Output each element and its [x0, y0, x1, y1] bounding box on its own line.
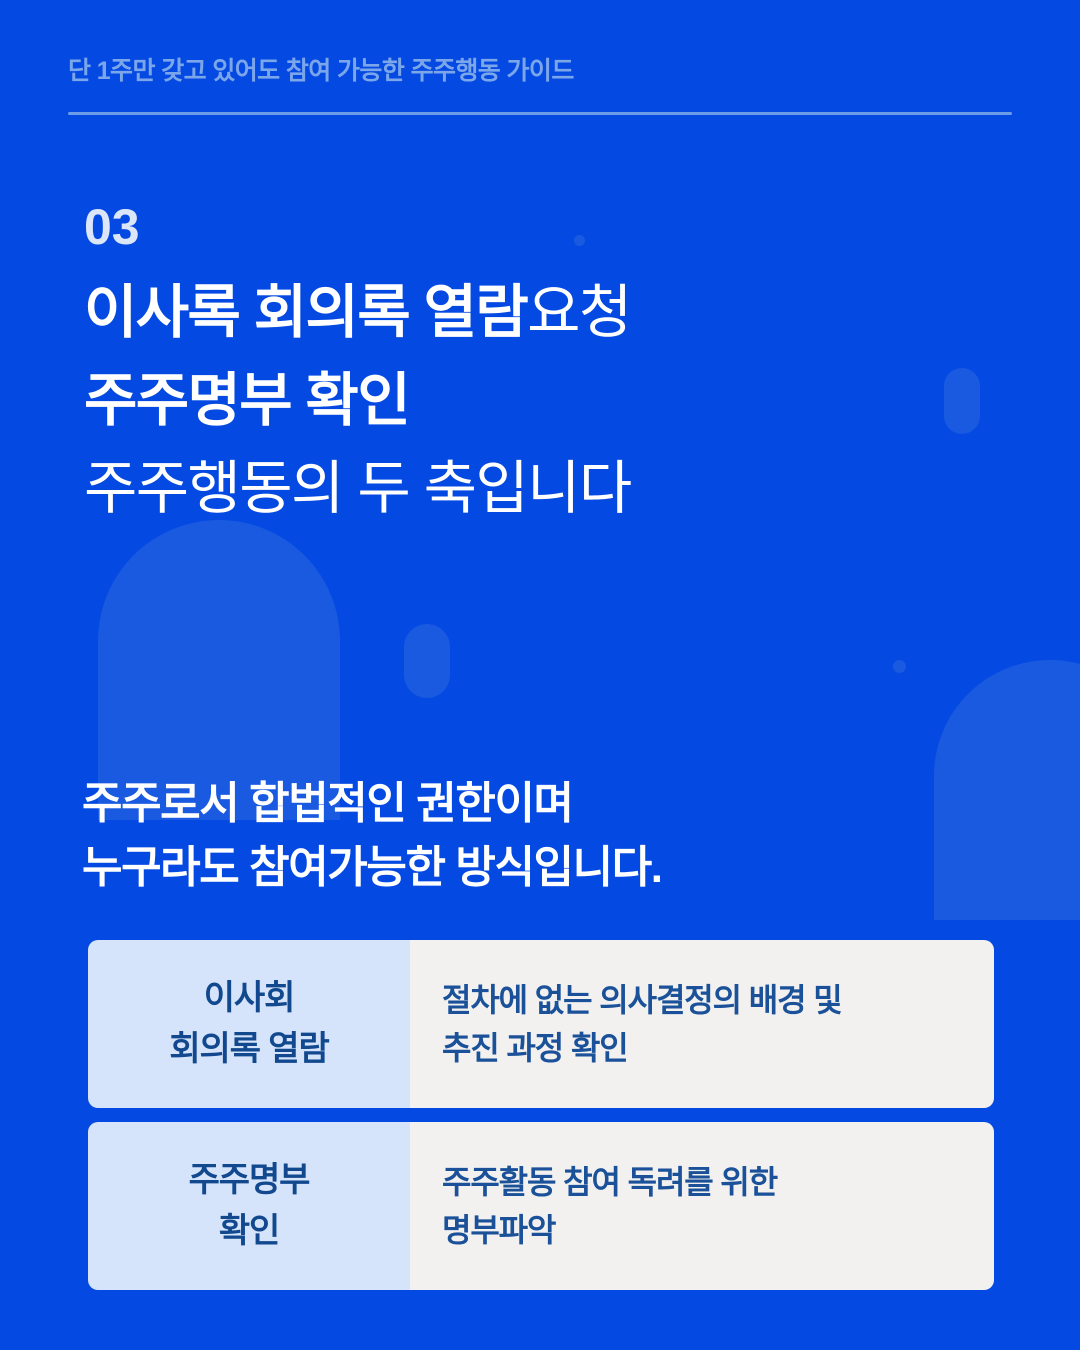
table-row-label-line-1: 주주명부	[189, 1155, 310, 1206]
subtitle: 주주로서 합법적인 권한이며 누구라도 참여가능한 방식입니다.	[82, 772, 982, 900]
table-row-description-line-1: 주주활동 참여 독려를 위한	[442, 1158, 994, 1206]
title-line-1-light: 요청	[527, 280, 631, 345]
header: 단 1주만 갖고 있어도 참여 가능한 주주행동 가이드	[68, 56, 1012, 115]
table-row-label: 이사회 회의록 열람	[88, 940, 410, 1108]
table-row-description-line-2: 추진 과정 확인	[442, 1024, 994, 1072]
decorative-pill-middle	[404, 624, 450, 698]
table-row-description-line-2: 명부파악	[442, 1206, 994, 1254]
header-divider	[68, 112, 1012, 115]
table-row: 이사회 회의록 열람 절차에 없는 의사결정의 배경 및 추진 과정 확인	[88, 940, 994, 1108]
table-row-description: 주주활동 참여 독려를 위한 명부파악	[410, 1122, 994, 1290]
title-line-1-bold: 이사록 회의록 열람	[84, 280, 527, 345]
title-line-1: 이사록 회의록 열람요청	[84, 269, 984, 357]
title-line-2-bold: 주주명부 확인	[84, 368, 409, 433]
title-line-3: 주주행동의 두 축입니다	[84, 445, 984, 533]
header-kicker: 단 1주만 갖고 있어도 참여 가능한 주주행동 가이드	[68, 56, 1012, 86]
table-row-description-line-1: 절차에 없는 의사결정의 배경 및	[442, 976, 994, 1024]
title-line-2: 주주명부 확인	[84, 357, 984, 445]
table-row-label-line-1: 이사회	[204, 973, 295, 1024]
subtitle-line-1: 주주로서 합법적인 권한이며	[82, 772, 982, 836]
info-table: 이사회 회의록 열람 절차에 없는 의사결정의 배경 및 추진 과정 확인 주주…	[88, 940, 994, 1290]
decorative-dot-right	[893, 660, 906, 673]
table-row-description: 절차에 없는 의사결정의 배경 및 추진 과정 확인	[410, 940, 994, 1108]
table-row: 주주명부 확인 주주활동 참여 독려를 위한 명부파악	[88, 1122, 994, 1290]
title-block: 03 이사록 회의록 열람요청 주주명부 확인 주주행동의 두 축입니다	[84, 200, 984, 533]
title-line-3-light: 주주행동의 두 축입니다	[84, 456, 631, 521]
table-row-label-line-2: 회의록 열람	[169, 1024, 328, 1075]
table-row-label-line-2: 확인	[219, 1206, 279, 1257]
table-row-label: 주주명부 확인	[88, 1122, 410, 1290]
section-number: 03	[84, 200, 984, 255]
subtitle-line-2: 누구라도 참여가능한 방식입니다.	[82, 836, 982, 900]
